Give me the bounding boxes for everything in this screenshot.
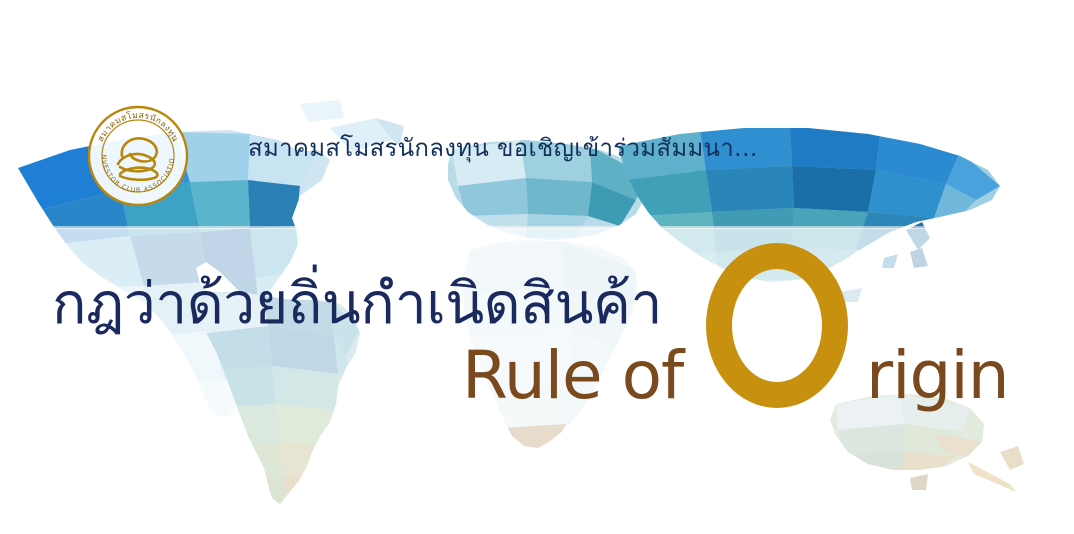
investor-club-association-logo: สมาคมสโมสรนักลงทุน INVESTOR CLUB ASSOCIA… [86,104,190,208]
organization-invite-line: สมาคมสโมสรนักลงทุน ขอเชิญเข้าร่วมสัมมนา.… [248,133,758,163]
thai-headline: กฎว่าด้วยถิ่นกำเนิดสินค้า [52,272,662,336]
world-map-background [0,0,1074,534]
world-map-svg [0,0,1074,534]
logo-svg: สมาคมสโมสรนักลงทุน INVESTOR CLUB ASSOCIA… [86,104,190,208]
english-title-rigin: rigin [866,340,1009,412]
letter-o-ring [706,243,848,408]
rule-of-origin-banner: สมาคมสโมสรนักลงทุน INVESTOR CLUB ASSOCIA… [0,0,1074,534]
english-title-letter-o [706,243,848,408]
english-title-rule-of: Rule of [462,340,683,412]
